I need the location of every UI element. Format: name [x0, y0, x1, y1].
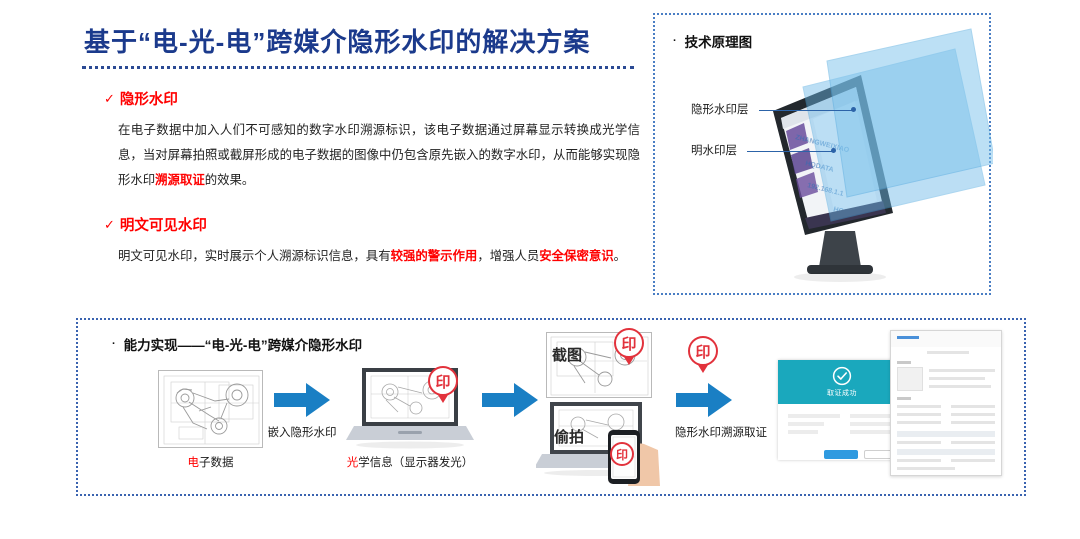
verification-card: 取证成功 [778, 360, 906, 460]
arrow-right-icon-3 [676, 382, 732, 418]
doc-line [951, 413, 995, 416]
seal-icon-1: 印 [428, 366, 458, 396]
forensics-caption: 隐形水印溯源取证 [670, 424, 772, 440]
doc-line [897, 421, 941, 424]
seal-pin-tip-2 [624, 357, 634, 365]
section-2-text-hl2: 安全保密意识 [539, 249, 613, 263]
section-2-text-a: 明文可见水印，实时展示个人溯源标识信息，具有 [118, 249, 391, 263]
verification-row [788, 430, 818, 434]
section-1-text-b: 的效果。 [205, 173, 255, 187]
doc-line [897, 459, 941, 462]
doc-header-band [891, 331, 1002, 347]
page-title: 基于“电-光-电”跨媒介隐形水印的解决方案 [84, 22, 590, 59]
check-icon: ✓ [104, 218, 115, 231]
leader-line-2 [747, 151, 833, 152]
verification-card-body [778, 404, 906, 444]
section-2-text-b: ，增强人员 [477, 249, 539, 263]
verification-card-header: 取证成功 [778, 360, 906, 404]
slide-root: 基于“电-光-电”跨媒介隐形水印的解决方案 ✓ 隐形水印 在电子数据中加入人们不… [0, 0, 1080, 539]
covert-photo-label: 偷拍 [554, 426, 584, 447]
caption-red-char: 光 [347, 457, 359, 469]
laptop-optical-image: 印 [346, 364, 474, 450]
section-1-heading-label: 隐形水印 [120, 88, 178, 109]
verification-primary-button[interactable] [824, 450, 858, 459]
verification-row [788, 422, 824, 426]
monitor-diagram: ZHANGWEIXIAO HQDATA 192.168.1.1 HQDATA 隐… [655, 15, 993, 297]
section-1-heading: ✓ 隐形水印 [104, 88, 640, 109]
label-invisible-watermark-layer: 隐形水印层 [691, 101, 749, 117]
caption-rest: 子数据 [199, 457, 234, 469]
doc-title-line [927, 351, 969, 354]
doc-thumb [897, 367, 923, 391]
electronic-data-image [158, 370, 263, 448]
doc-logo [897, 336, 919, 339]
embed-watermark-caption: 嵌入隐形水印 [266, 424, 338, 440]
doc-line [897, 405, 941, 408]
section-visible-watermark: ✓ 明文可见水印 明文可见水印，实时展示个人溯源标识信息，具有较强的警示作用，增… [104, 214, 640, 269]
title-divider [82, 66, 634, 69]
section-2-text-c: 。 [614, 249, 626, 263]
doc-line [951, 405, 995, 408]
seal-icon-4: 印 [688, 336, 718, 366]
doc-table-header [897, 431, 995, 437]
seal-icon-3: 印 [610, 442, 634, 466]
doc-line [929, 385, 991, 388]
doc-line [951, 421, 995, 424]
check-icon: ✓ [104, 92, 115, 105]
capability-flow-panel: · 能力实现——“电-光-电”跨媒介隐形水印 [76, 318, 1026, 496]
verification-status: 取证成功 [827, 388, 857, 398]
section-2-heading: ✓ 明文可见水印 [104, 214, 640, 235]
doc-line [897, 441, 941, 444]
section-invisible-watermark: ✓ 隐形水印 在电子数据中加入人们不可感知的数字水印溯源标识，该电子数据通过屏幕… [104, 88, 640, 192]
doc-line [897, 413, 941, 416]
doc-section-label [897, 361, 911, 364]
section-1-text-hl: 溯源取证 [155, 173, 205, 187]
flow-row: 电子数据 嵌入隐形水印 [78, 320, 1028, 498]
doc-line [951, 441, 995, 444]
check-circle-icon [832, 366, 852, 386]
caption-rest: 学信息（显示器发光） [358, 457, 473, 469]
section-2-body: 明文可见水印，实时展示个人溯源标识信息，具有较强的警示作用，增强人员安全保密意识… [104, 244, 640, 269]
covert-photo-image: 偷拍 印 [536, 400, 664, 486]
arrow-right-icon-1 [274, 382, 330, 418]
tech-principle-panel: · 技术原理图 ZHANG [653, 13, 991, 295]
section-2-heading-label: 明文可见水印 [120, 214, 207, 235]
section-2-text-hl1: 较强的警示作用 [391, 249, 478, 263]
screenshot-label: 截图 [552, 344, 582, 365]
doc-line [897, 467, 955, 470]
leader-dot-1 [851, 107, 856, 112]
seal-icon-2: 印 [614, 328, 644, 358]
seal-pin-tip-1 [438, 395, 448, 403]
seal-pin-tip-4 [698, 365, 708, 373]
doc-line [951, 459, 995, 462]
doc-section-label [897, 397, 911, 400]
leader-dot-2 [831, 148, 836, 153]
arrow-right-icon-2 [482, 382, 538, 418]
leader-line-1 [759, 110, 853, 111]
optical-info-caption: 光学信息（显示器发光） [332, 454, 488, 470]
cad-drawing-svg [159, 371, 263, 448]
verification-row [788, 414, 840, 418]
electronic-data-caption: 电子数据 [158, 454, 263, 470]
label-visible-watermark-layer: 明水印层 [691, 142, 737, 158]
doc-line [929, 369, 995, 372]
caption-red-char: 电 [188, 457, 200, 469]
forensics-report-document [890, 330, 1002, 476]
section-1-body: 在电子数据中加入人们不可感知的数字水印溯源标识，该电子数据通过屏幕显示转换成光学… [104, 118, 640, 192]
doc-table-header [897, 449, 995, 455]
verification-row [850, 422, 890, 426]
doc-line [929, 377, 985, 380]
